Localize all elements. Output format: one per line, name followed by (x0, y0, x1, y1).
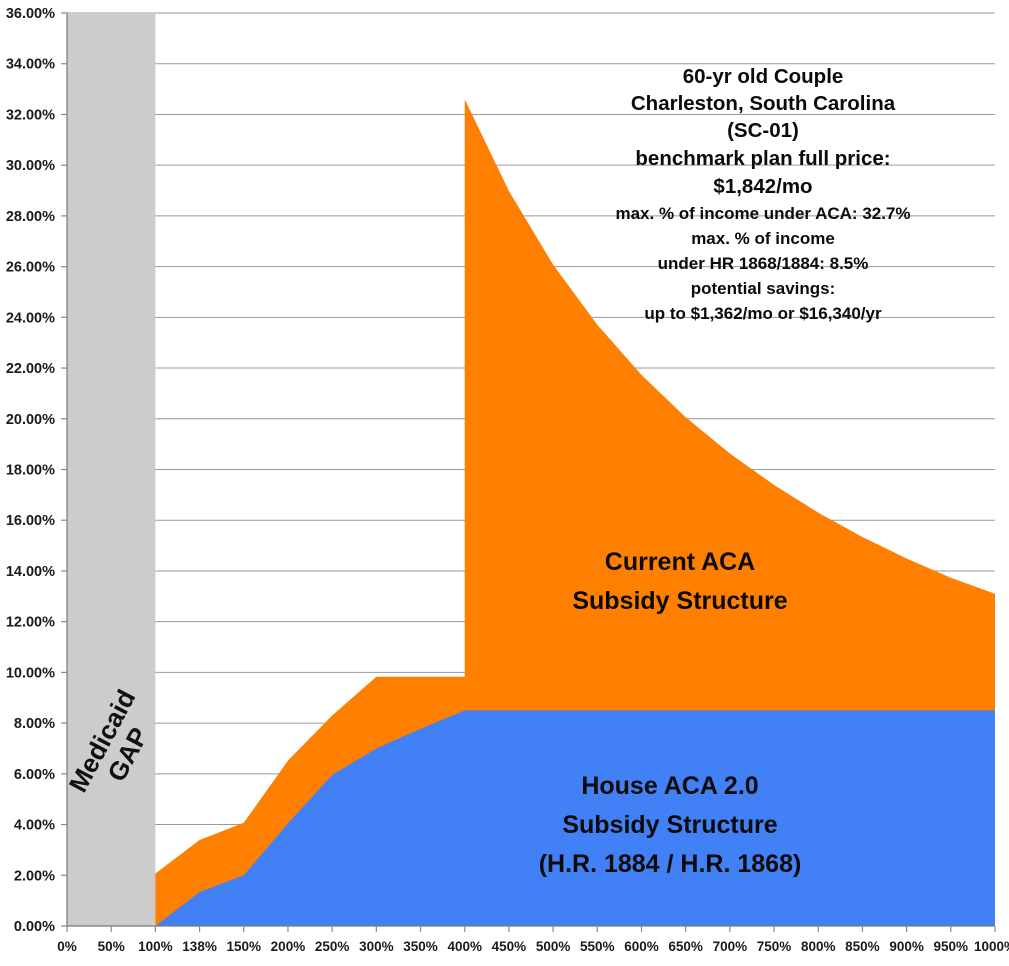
y-axis-tick-label: 32.00% (6, 107, 55, 123)
x-axis-tick-label: 550% (580, 939, 615, 954)
y-axis-tick-label: 10.00% (6, 665, 55, 681)
current-aca-legend-line1: Current ACA (605, 548, 755, 576)
x-axis-tick-label: 750% (757, 939, 792, 954)
x-axis-tick-label: 950% (934, 939, 969, 954)
annotation-line-4: benchmark plan full price: (635, 147, 890, 170)
y-axis-tick-label: 24.00% (6, 310, 55, 326)
y-axis-tick-label: 16.00% (6, 513, 55, 529)
y-axis-tick-label: 36.00% (6, 6, 55, 22)
x-axis-tick-label: 350% (403, 939, 438, 954)
house-aca-legend-line1: House ACA 2.0 (581, 772, 758, 800)
y-axis-tick-label: 20.00% (6, 412, 55, 428)
x-axis-tick-label: 450% (492, 939, 527, 954)
house-aca-legend-line3: (H.R. 1884 / H.R. 1868) (539, 850, 802, 878)
x-axis-tick-label: 900% (889, 939, 924, 954)
chart-annotation-block: 60-yr old Couple Charleston, South Carol… (615, 65, 910, 323)
x-axis-tick-label: 50% (98, 939, 125, 954)
x-axis-tick-marks (67, 926, 995, 932)
y-axis-tick-label: 12.00% (6, 615, 55, 631)
annotation-line-9: potential savings: (691, 279, 836, 298)
annotation-line-3: (SC-01) (727, 119, 799, 142)
annotation-line-6: max. % of income under ACA: 32.7% (615, 204, 910, 223)
x-axis-tick-label: 800% (801, 939, 836, 954)
x-axis-tick-label: 0% (57, 939, 77, 954)
y-axis-tick-label: 0.00% (14, 919, 55, 935)
y-axis-tick-label: 8.00% (14, 716, 55, 732)
x-axis-tick-label: 150% (226, 939, 261, 954)
x-axis-tick-label: 200% (271, 939, 306, 954)
x-axis-tick-labels: 0%50%100%138%150%200%250%300%350%400%450… (57, 939, 1009, 954)
y-axis-tick-label: 4.00% (14, 818, 55, 834)
x-axis-tick-label: 650% (668, 939, 703, 954)
y-axis-tick-labels: 0.00%2.00%4.00%6.00%8.00%10.00%12.00%14.… (6, 6, 55, 935)
x-axis-tick-label: 850% (845, 939, 880, 954)
annotation-line-2: Charleston, South Carolina (631, 92, 896, 115)
x-axis-tick-label: 100% (138, 939, 173, 954)
annotation-line-5: $1,842/mo (713, 175, 812, 198)
y-axis-tick-label: 34.00% (6, 57, 55, 73)
y-axis-tick-label: 28.00% (6, 209, 55, 225)
annotation-line-10: up to $1,362/mo or $16,340/yr (644, 304, 882, 323)
x-axis-tick-label: 500% (536, 939, 571, 954)
y-axis-tick-label: 6.00% (14, 767, 55, 783)
annotation-line-7: max. % of income (691, 229, 835, 248)
current-aca-legend-line2: Subsidy Structure (572, 587, 787, 615)
y-axis-tick-label: 14.00% (6, 564, 55, 580)
x-axis-tick-label: 138% (182, 939, 217, 954)
x-axis-tick-label: 250% (315, 939, 350, 954)
y-axis-tick-label: 26.00% (6, 260, 55, 276)
annotation-line-1: 60-yr old Couple (683, 65, 844, 88)
chart-canvas: 0.00%2.00%4.00%6.00%8.00%10.00%12.00%14.… (0, 0, 1009, 966)
y-axis-tick-label: 18.00% (6, 463, 55, 479)
house-aca-legend-line2: Subsidy Structure (562, 811, 777, 839)
y-axis-tick-marks (61, 13, 67, 926)
y-axis-tick-label: 22.00% (6, 361, 55, 377)
y-axis-tick-label: 30.00% (6, 158, 55, 174)
area-chart: 0.00%2.00%4.00%6.00%8.00%10.00%12.00%14.… (0, 0, 1009, 966)
y-axis-tick-label: 2.00% (14, 868, 55, 884)
x-axis-tick-label: 700% (713, 939, 748, 954)
x-axis-tick-label: 1000% (974, 939, 1009, 954)
annotation-line-8: under HR 1868/1884: 8.5% (658, 254, 869, 273)
x-axis-tick-label: 300% (359, 939, 394, 954)
x-axis-tick-label: 600% (624, 939, 659, 954)
x-axis-tick-label: 400% (447, 939, 482, 954)
